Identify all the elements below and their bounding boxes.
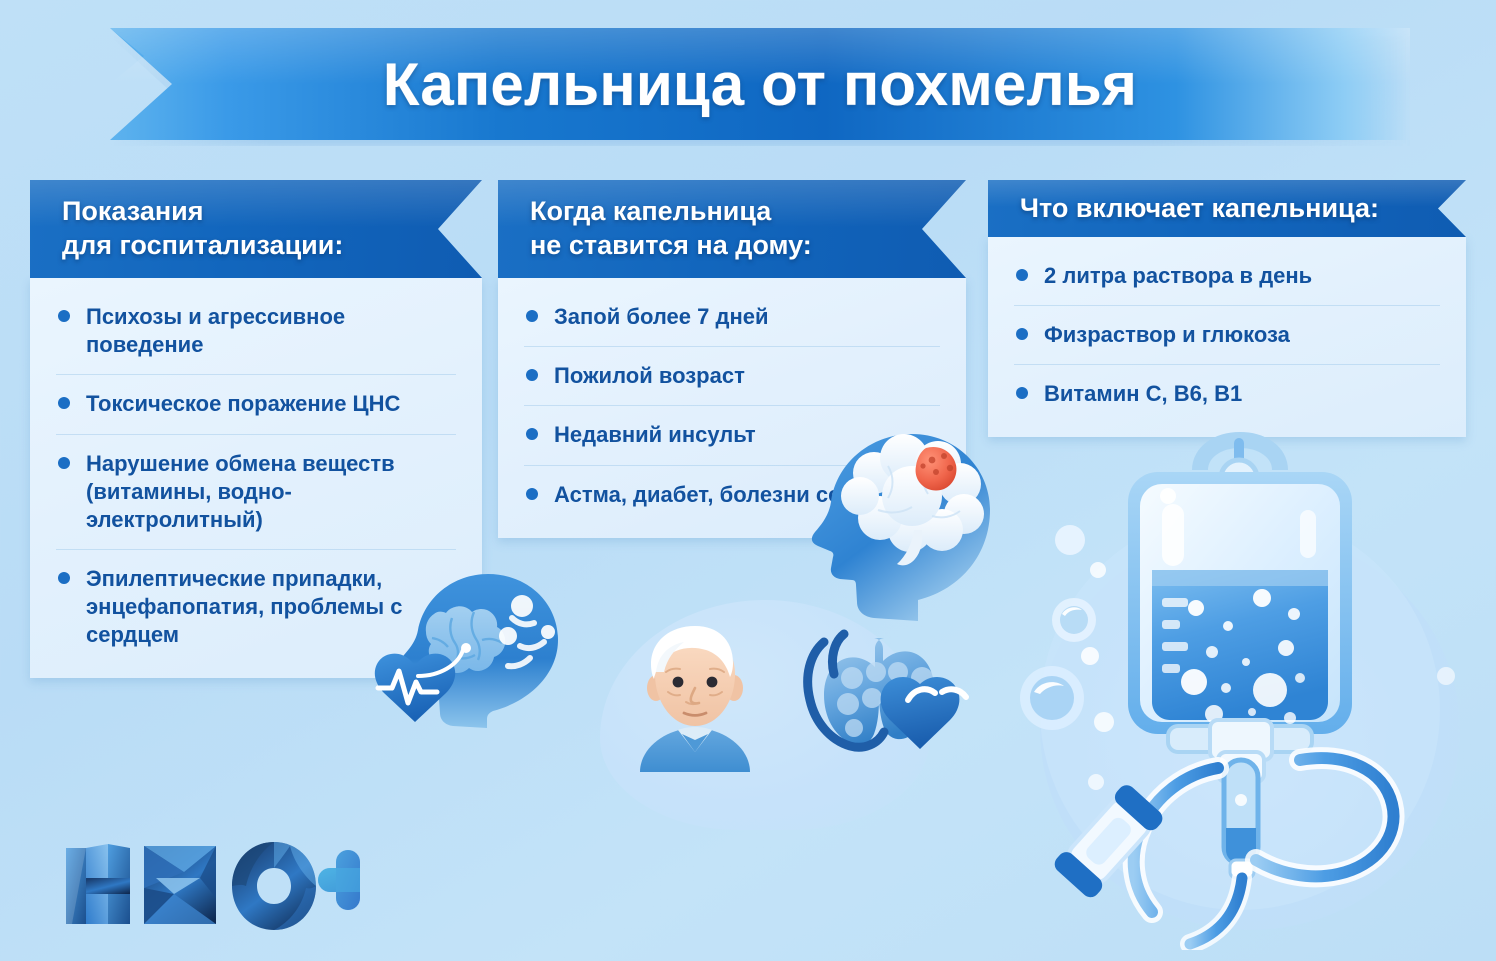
list-item-label: Витамин C, B6, B1 — [1044, 381, 1242, 406]
bullet-dot-icon — [526, 488, 538, 500]
column-contents-header: Что включает капельница: — [988, 180, 1466, 237]
elderly-man-icon — [600, 612, 790, 772]
bullet-dot-icon — [58, 572, 70, 584]
bullet-dot-icon — [526, 369, 538, 381]
column-contraindications-header: Когда капельница не ставится на дому: — [498, 180, 966, 278]
title-line-2: для госпитализации: — [62, 230, 343, 260]
title-line-1: Показания — [62, 196, 204, 226]
list-item: Запой более 7 дней — [524, 288, 940, 347]
page-title: Капельница от похмелья — [110, 28, 1410, 140]
list-item: Физраствор и глюкоза — [1014, 306, 1440, 365]
column-contraindications-body: Запой более 7 дней Пожилой возраст Недав… — [498, 278, 966, 538]
bullet-dot-icon — [58, 310, 70, 322]
title-line-1: Когда капельница — [530, 196, 771, 226]
column-contents-body: 2 литра раствора в день Физраствор и глю… — [988, 237, 1466, 437]
background-blob-right-inner — [1080, 600, 1410, 910]
list-item: 2 литра раствора в день — [1014, 247, 1440, 306]
bullet-dot-icon — [526, 310, 538, 322]
list-item-label: Эпилептические припадки, энцефапопатия, … — [86, 566, 403, 647]
list-item: Токсическое поражение ЦНС — [56, 375, 456, 434]
list-item-label: Запой более 7 дней — [554, 304, 769, 329]
title-banner: Капельница от похмелья — [0, 28, 1496, 146]
list-item-label: Нарушение обмена веществ (витамины, водн… — [86, 451, 395, 532]
column-contents-title: Что включает капельница: — [1020, 191, 1392, 225]
column-indications-body: Психозы и агрессивное поведение Токсичес… — [30, 278, 482, 678]
indications-list: Психозы и агрессивное поведение Токсичес… — [56, 288, 456, 664]
list-item-label: Астма, диабет, болезни сердца — [554, 482, 893, 507]
bullet-dot-icon — [58, 397, 70, 409]
lungs-stethoscope-heart-icon — [790, 620, 985, 775]
column-indications-header: Показания для госпитализации: — [30, 180, 482, 278]
list-item: Психозы и агрессивное поведение — [56, 288, 456, 375]
iv-drip-bag-icon — [1000, 430, 1496, 950]
bullet-dot-icon — [1016, 387, 1028, 399]
column-indications: Показания для госпитализации: Психозы и … — [30, 180, 482, 678]
contents-list: 2 литра раствора в день Физраствор и глю… — [1014, 247, 1440, 423]
column-contraindications: Когда капельница не ставится на дому: За… — [498, 180, 966, 538]
column-indications-title: Показания для госпитализации: — [62, 194, 408, 262]
list-item: Нарушение обмена веществ (витамины, водн… — [56, 435, 456, 550]
list-item: Пожилой возраст — [524, 347, 940, 406]
bullet-dot-icon — [526, 428, 538, 440]
list-item: Астма, диабет, болезни сердца — [524, 466, 940, 524]
title-line-2: не ставится на дому: — [530, 230, 812, 260]
infographic-canvas: Капельница от похмелья Показания для гос… — [0, 0, 1496, 961]
bullet-dot-icon — [1016, 269, 1028, 281]
list-item: Недавний инсульт — [524, 406, 940, 465]
list-item: Витамин C, B6, B1 — [1014, 365, 1440, 423]
background-blob-right — [1040, 530, 1460, 930]
bullet-dot-icon — [1016, 328, 1028, 340]
list-item: Эпилептические припадки, энцефапопатия, … — [56, 550, 456, 664]
list-item-label: Токсическое поражение ЦНС — [86, 391, 400, 416]
list-item-label: Недавний инсульт — [554, 422, 756, 447]
list-item-label: Пожилой возраст — [554, 363, 745, 388]
contraindications-list: Запой более 7 дней Пожилой возраст Недав… — [524, 288, 940, 524]
bullet-dot-icon — [58, 457, 70, 469]
list-item-label: 2 литра раствора в день — [1044, 263, 1312, 288]
column-contraindications-title: Когда капельница не ставится на дому: — [530, 194, 892, 262]
list-item-label: Физраствор и глюкоза — [1044, 322, 1290, 347]
background-blob-middle — [600, 600, 930, 830]
list-item-label: Психозы и агрессивное поведение — [86, 304, 345, 357]
neo-plus-logo — [60, 838, 360, 934]
column-contents: Что включает капельница: 2 литра раствор… — [988, 180, 1466, 437]
